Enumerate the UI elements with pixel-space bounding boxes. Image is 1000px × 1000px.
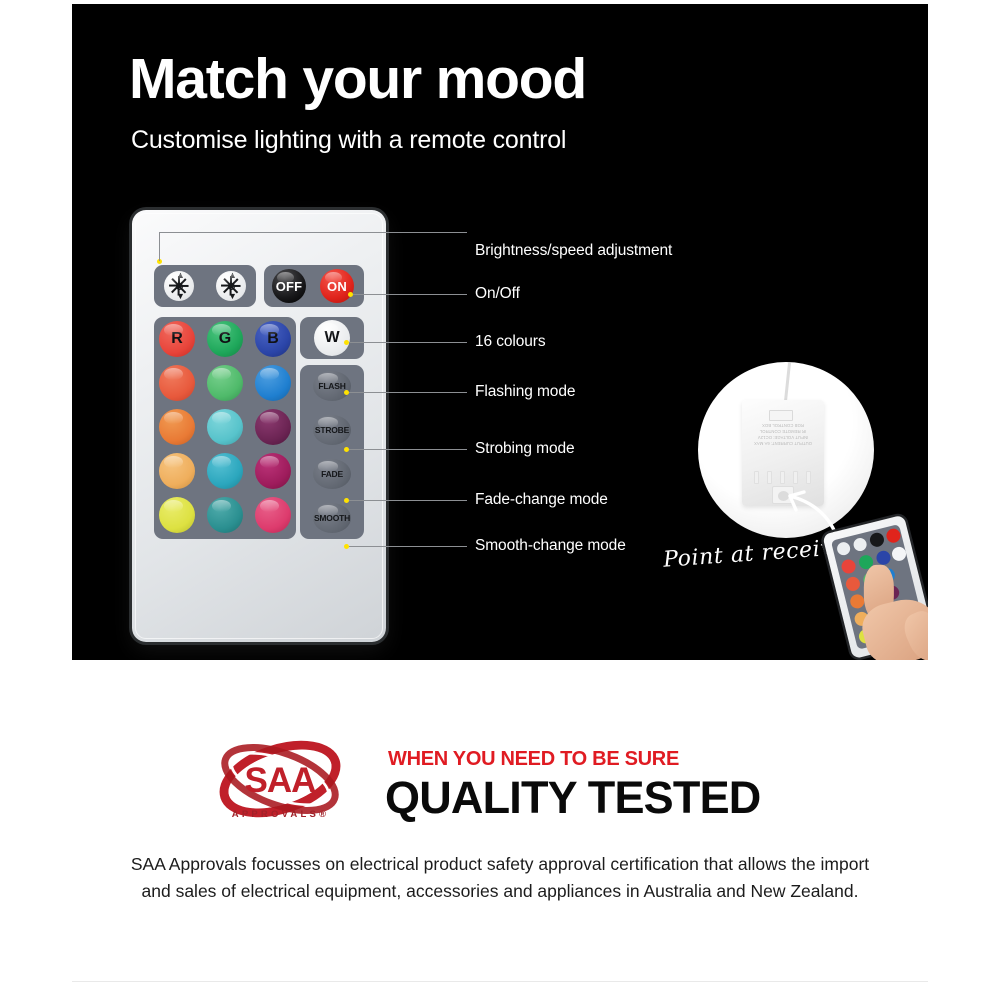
- control-box-pin: [780, 471, 785, 484]
- colour-button-r3c3[interactable]: [255, 453, 291, 489]
- brightness-down-button[interactable]: ▲▼: [216, 271, 246, 301]
- callout-line-smooth: [349, 546, 467, 547]
- colour-grid-group: R G B: [154, 317, 296, 539]
- colour-button-r1c1[interactable]: [159, 365, 195, 401]
- colour-button-r4c2[interactable]: [207, 497, 243, 533]
- saa-logo-mark: SAA: [213, 740, 348, 818]
- colour-button-r3c1[interactable]: [159, 453, 195, 489]
- mini-blue: [875, 549, 892, 566]
- saa-blurb-text: SAA Approvals focusses on electrical pro…: [120, 851, 880, 905]
- control-box-pin: [754, 471, 759, 484]
- control-box-label: OUTPUT CURRENT: 6A MAX INPUT VOLTAGE: DC…: [748, 422, 818, 446]
- label-line-title: RGB CONTROL BOX: [748, 422, 818, 428]
- white-button-group: W: [300, 317, 364, 359]
- label-line-output: OUTPUT CURRENT: 6A MAX: [748, 440, 818, 446]
- saa-headline: QUALITY TESTED: [385, 772, 761, 824]
- strobe-button[interactable]: STROBE: [313, 415, 351, 445]
- brightness-up-button[interactable]: ▲▼: [164, 271, 194, 301]
- sun-up-icon: ▲▼: [169, 276, 189, 296]
- svg-text:SAA: SAA: [245, 761, 317, 800]
- colour-button-blue[interactable]: B: [255, 321, 291, 357]
- flash-button[interactable]: FLASH: [313, 371, 351, 401]
- saa-approvals-logo: SAA APPROVALS®: [213, 740, 348, 836]
- remote-control-image: ▲▼ ▲▼ OFF ON R G B: [132, 210, 386, 642]
- white-label: W: [324, 329, 339, 347]
- colour-button-r2c3[interactable]: [255, 409, 291, 445]
- mini-brightness-down: [852, 537, 868, 553]
- label-line-input: INPUT VOLTAGE: DC12V: [748, 434, 818, 440]
- callout-label-brightness: Brightness/speed adjustment: [475, 242, 672, 260]
- callout-line-fade: [349, 500, 467, 501]
- colour-button-r4c3[interactable]: [255, 497, 291, 533]
- green-label: G: [219, 330, 231, 348]
- callout-label-colours: 16 colours: [475, 333, 546, 351]
- callout-line-colours: [349, 342, 467, 343]
- saa-eyebrow-text: WHEN YOU NEED TO BE SURE: [388, 748, 679, 771]
- colour-button-white[interactable]: W: [314, 320, 350, 356]
- colour-button-r2c2[interactable]: [207, 409, 243, 445]
- callout-label-strobe: Strobing mode: [475, 440, 575, 458]
- callout-label-smooth: Smooth-change mode: [475, 537, 626, 555]
- saa-logo-subtext: APPROVALS®: [213, 809, 348, 820]
- fade-button[interactable]: FADE: [313, 459, 351, 489]
- hero-panel: Match your mood Customise lighting with …: [72, 4, 928, 660]
- colour-button-green[interactable]: G: [207, 321, 243, 357]
- mini-off-button: [868, 531, 885, 548]
- colour-button-r2c1[interactable]: [159, 409, 195, 445]
- mini-red: [840, 558, 857, 575]
- colour-button-r1c3[interactable]: [255, 365, 291, 401]
- off-button[interactable]: OFF: [272, 269, 306, 303]
- callout-line-brightness-h: [159, 232, 467, 233]
- receiver-wire: [784, 362, 791, 402]
- callout-line-power: [353, 294, 467, 295]
- callout-label-fade: Fade-change mode: [475, 491, 608, 509]
- sun-down-icon: ▲▼: [221, 276, 241, 296]
- control-box-chip: [769, 410, 793, 421]
- callout-line-brightness-v: [159, 232, 160, 261]
- mini-brightness-up: [836, 541, 852, 557]
- on-button[interactable]: ON: [320, 269, 354, 303]
- power-button-group: OFF ON: [264, 265, 364, 307]
- colour-button-red[interactable]: R: [159, 321, 195, 357]
- colour-button-r3c2[interactable]: [207, 453, 243, 489]
- control-box-pin: [806, 471, 811, 484]
- brightness-button-group: ▲▼ ▲▼: [154, 265, 256, 307]
- red-label: R: [171, 330, 183, 348]
- blue-label: B: [267, 330, 279, 348]
- control-box-pin: [793, 471, 798, 484]
- mini-on-button: [885, 527, 902, 544]
- page-headline: Match your mood: [129, 51, 586, 108]
- callout-line-strobe: [349, 449, 467, 450]
- control-box-pin: [767, 471, 772, 484]
- smooth-button[interactable]: SMOOTH: [313, 503, 351, 533]
- colour-button-r1c2[interactable]: [207, 365, 243, 401]
- callout-line-flash: [349, 392, 467, 393]
- bottom-divider: [72, 981, 928, 982]
- colour-button-r4c1[interactable]: [159, 497, 195, 533]
- page-subheadline: Customise lighting with a remote control: [131, 126, 566, 155]
- mini-white: [891, 545, 908, 562]
- callout-label-power: On/Off: [475, 285, 520, 303]
- callout-label-flash: Flashing mode: [475, 383, 575, 401]
